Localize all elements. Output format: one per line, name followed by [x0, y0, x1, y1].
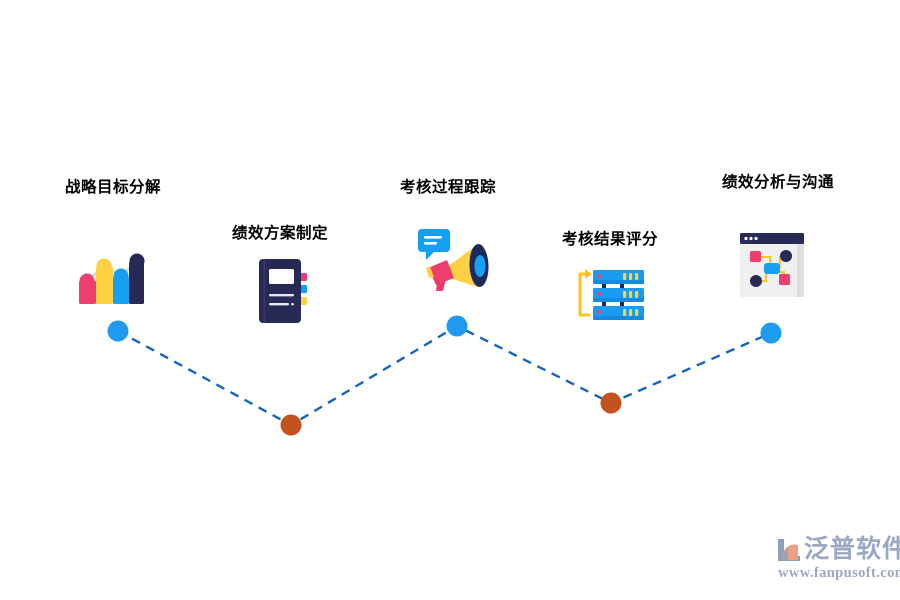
timeline-node-2 [281, 415, 302, 436]
timeline-node-3 [447, 316, 468, 337]
watermark-brand: 泛普软件 [804, 536, 900, 561]
timeline-node-4 [601, 393, 622, 414]
diagram-canvas: 战略目标分解 绩效方案制定 [0, 0, 900, 600]
timeline-node-5 [761, 323, 782, 344]
watermark: 泛普软件 www.fanpusoft.com [776, 534, 894, 592]
fanpu-logo-icon [776, 536, 802, 563]
watermark-url: www.fanpusoft.com [778, 566, 900, 581]
timeline-nodes [0, 0, 900, 600]
timeline-node-1 [108, 321, 129, 342]
